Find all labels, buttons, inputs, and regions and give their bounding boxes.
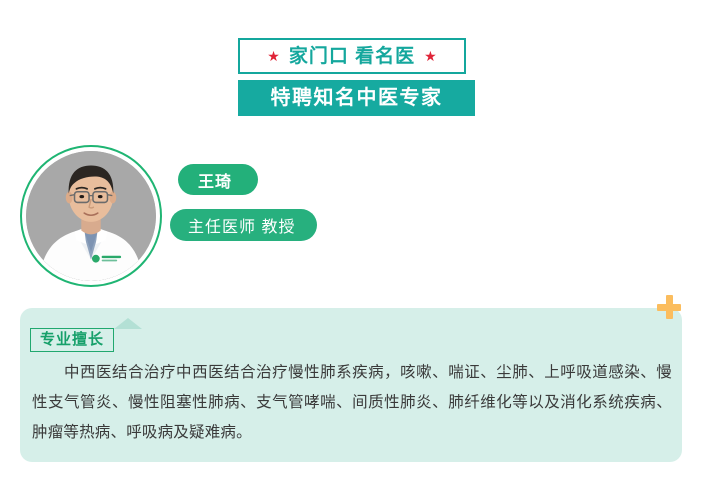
doctor-section: 王琦 主任医师 教授 bbox=[0, 140, 702, 295]
specialty-description: 中西医结合治疗中西医结合治疗慢性肺系疾病，咳嗽、喘证、尘肺、上呼吸道感染、慢性支… bbox=[32, 358, 672, 448]
doctor-portrait-illustration bbox=[26, 151, 156, 281]
header-banner: ★ 家门口 看名医 ★ 特聘知名中医专家 bbox=[0, 0, 702, 130]
star-icon-right: ★ bbox=[424, 49, 437, 63]
avatar-ring bbox=[20, 145, 162, 287]
banner-tagline-text: 家门口 看名医 bbox=[289, 47, 415, 66]
star-icon-left: ★ bbox=[267, 49, 280, 63]
triangle-pointer-icon bbox=[114, 318, 142, 329]
specialty-label: 专业擅长 bbox=[30, 328, 114, 352]
specialty-card: 专业擅长 中西医结合治疗中西医结合治疗慢性肺系疾病，咳嗽、喘证、尘肺、上呼吸道感… bbox=[20, 308, 682, 462]
banner-subtitle-text: 特聘知名中医专家 bbox=[271, 88, 443, 108]
banner-tagline-box: ★ 家门口 看名医 ★ bbox=[238, 38, 466, 74]
doctor-name-badge: 王琦 bbox=[178, 164, 258, 195]
banner-subtitle-box: 特聘知名中医专家 bbox=[238, 80, 475, 116]
plus-decoration-icon bbox=[657, 295, 681, 319]
avatar bbox=[26, 151, 156, 281]
doctor-title-badge: 主任医师 教授 bbox=[170, 209, 317, 241]
